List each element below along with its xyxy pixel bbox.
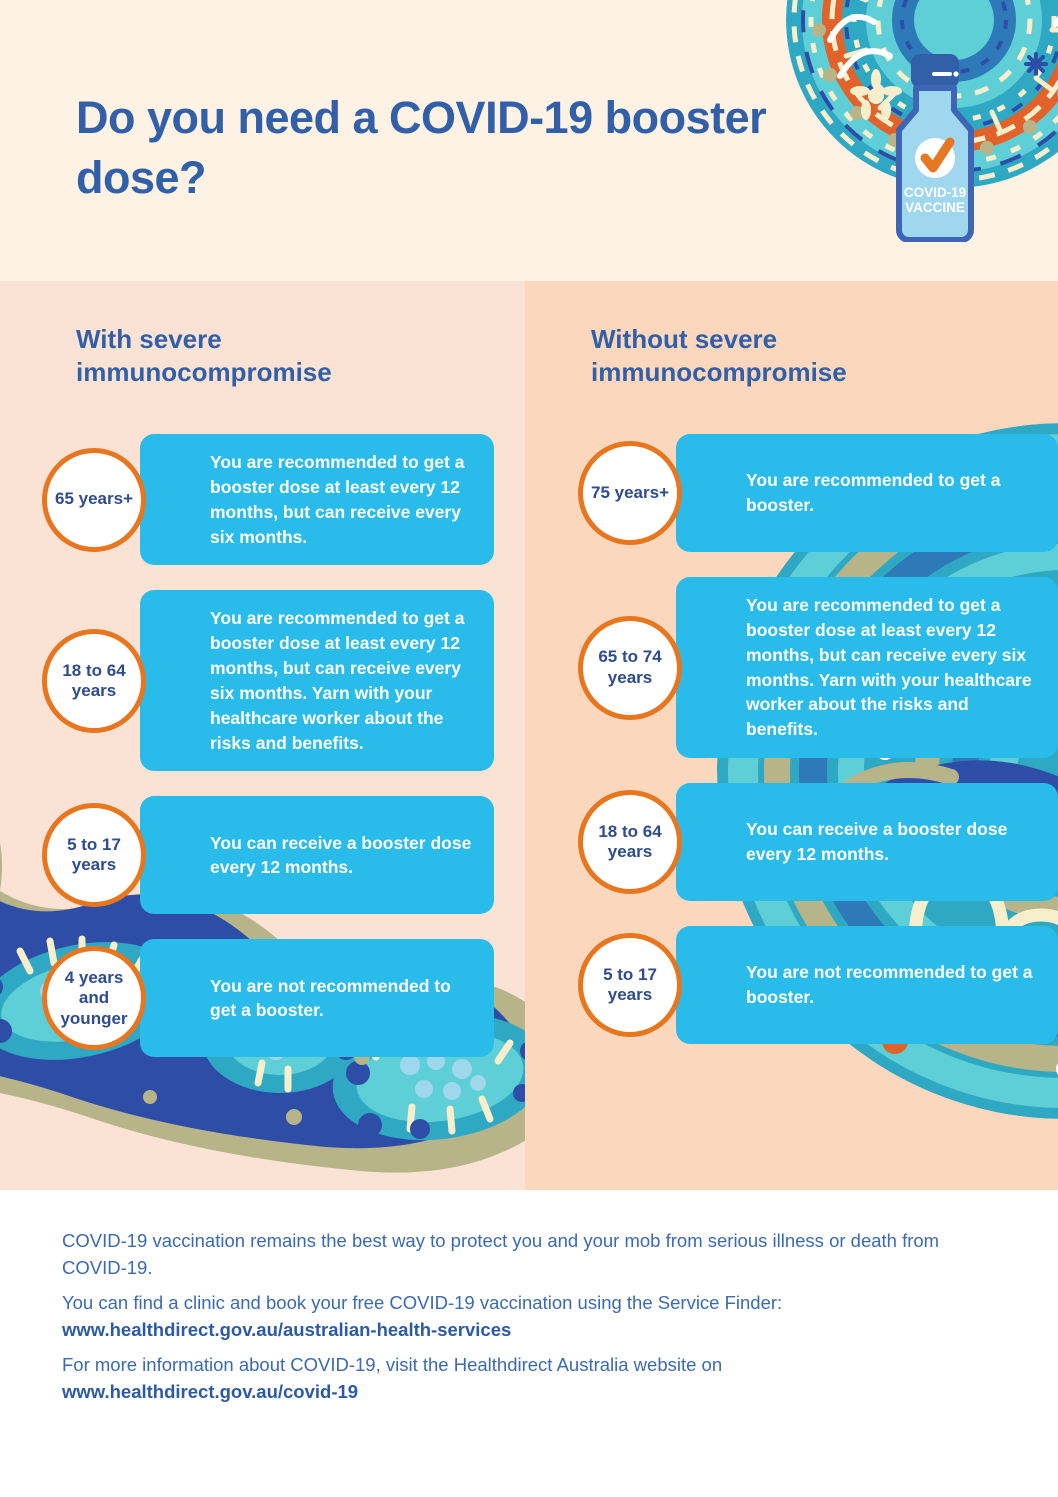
row-item: You can receive a booster dose every 12 … (42, 796, 494, 914)
recommendation-text: You are not recommended to get a booster… (676, 944, 1058, 1026)
age-group-label: 18 to 64 years (62, 661, 125, 702)
recommendation-bubble: You can receive a booster dose every 12 … (676, 783, 1058, 901)
page-title: Do you need a COVID-19 booster dose? (76, 88, 836, 208)
recommendation-text: You are recommended to get a booster. (676, 452, 1058, 534)
row-item: You are not recommended to get a booster… (578, 926, 1058, 1044)
panel-heading-right: Without severe immunocompromise (591, 323, 991, 389)
footer-p3-lead: For more information about COVID-19, vis… (62, 1354, 722, 1375)
age-group-badge: 5 to 17 years (42, 803, 146, 907)
panels-container: With severe immunocompromise You are rec… (0, 281, 1058, 1190)
row-item: You are recommended to get a booster dos… (42, 434, 494, 565)
age-group-label: 65 to 74 years (598, 647, 661, 688)
row-item: You are recommended to get a booster dos… (578, 577, 1058, 758)
recommendation-bubble: You can receive a booster dose every 12 … (140, 796, 494, 914)
panel-with-severe-immunocompromise: With severe immunocompromise You are rec… (0, 281, 525, 1190)
service-finder-url[interactable]: www.healthdirect.gov.au/australian-healt… (62, 1319, 511, 1340)
age-group-badge: 4 years and younger (42, 946, 146, 1050)
recommendation-text: You are recommended to get a booster dos… (676, 577, 1058, 758)
rows-left: You are recommended to get a booster dos… (42, 434, 494, 1082)
panel-heading-left: With severe immunocompromise (76, 323, 476, 389)
vaccine-label-line1: COVID-19 (904, 185, 966, 200)
vaccine-label-line2: VACCINE (905, 200, 965, 215)
vaccine-bottle-illustration: COVID-19 VACCINE (880, 52, 990, 242)
age-group-label: 18 to 64 years (598, 822, 661, 863)
footer: COVID-19 vaccination remains the best wa… (0, 1190, 1058, 1497)
recommendation-bubble: You are not recommended to get a booster… (140, 939, 494, 1057)
recommendation-text: You can receive a booster dose every 12 … (140, 815, 494, 897)
panel-without-severe-immunocompromise: Without severe immunocompromise You are … (525, 281, 1058, 1190)
recommendation-text: You can receive a booster dose every 12 … (676, 801, 1058, 883)
footer-paragraph-1: COVID-19 vaccination remains the best wa… (62, 1228, 967, 1282)
footer-paragraph-3: For more information about COVID-19, vis… (62, 1352, 967, 1406)
recommendation-bubble: You are recommended to get a booster. (676, 434, 1058, 552)
age-group-badge: 5 to 17 years (578, 933, 682, 1037)
age-group-badge: 18 to 64 years (42, 629, 146, 733)
age-group-badge: 18 to 64 years (578, 790, 682, 894)
rows-right: You are recommended to get a booster. 75… (578, 434, 1058, 1069)
row-item: You can receive a booster dose every 12 … (578, 783, 1058, 901)
age-group-label: 4 years and younger (60, 968, 127, 1029)
age-group-label: 75 years+ (591, 483, 669, 503)
footer-p2-lead: You can find a clinic and book your free… (62, 1292, 782, 1313)
recommendation-bubble: You are recommended to get a booster dos… (676, 577, 1058, 758)
poster-root: Do you need a COVID-19 booster dose? COV… (0, 0, 1058, 1497)
recommendation-text: You are recommended to get a booster dos… (140, 434, 494, 565)
age-group-badge: 75 years+ (578, 441, 682, 545)
healthdirect-covid-url[interactable]: www.healthdirect.gov.au/covid-19 (62, 1381, 358, 1402)
recommendation-text: You are recommended to get a booster dos… (140, 590, 494, 771)
age-group-label: 5 to 17 years (67, 835, 121, 876)
age-group-label: 5 to 17 years (603, 965, 657, 1006)
recommendation-text: You are not recommended to get a booster… (140, 958, 494, 1040)
recommendation-bubble: You are recommended to get a booster dos… (140, 434, 494, 565)
row-item: You are recommended to get a booster. 75… (578, 434, 1058, 552)
age-group-badge: 65 years+ (42, 448, 146, 552)
recommendation-bubble: You are recommended to get a booster dos… (140, 590, 494, 771)
recommendation-bubble: You are not recommended to get a booster… (676, 926, 1058, 1044)
age-group-label: 65 years+ (55, 489, 133, 509)
header-banner: Do you need a COVID-19 booster dose? COV… (0, 0, 1058, 281)
footer-paragraph-2: You can find a clinic and book your free… (62, 1290, 967, 1344)
row-item: You are recommended to get a booster dos… (42, 590, 494, 771)
row-item: You are not recommended to get a booster… (42, 939, 494, 1057)
age-group-badge: 65 to 74 years (578, 616, 682, 720)
